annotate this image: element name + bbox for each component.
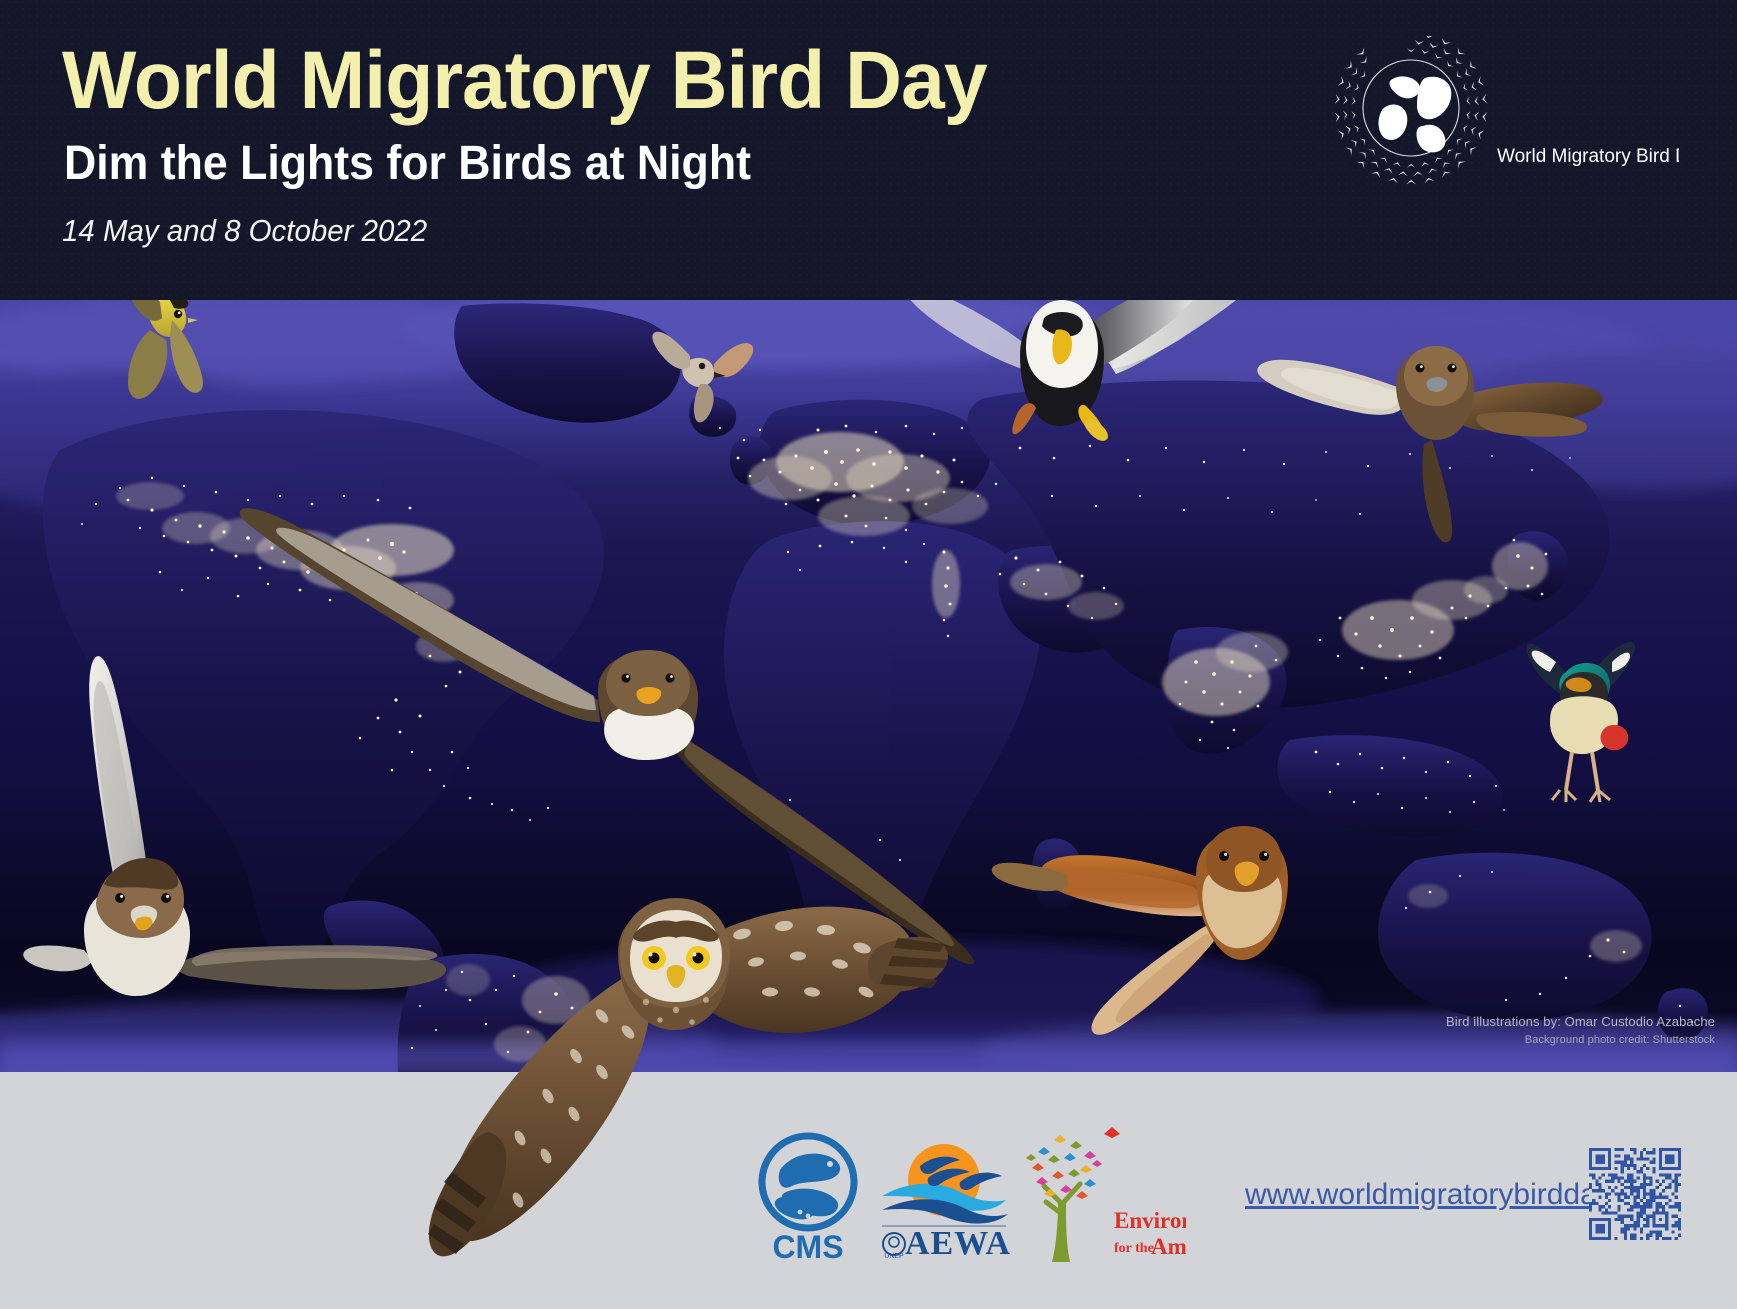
efta-label-line1: Environment	[1114, 1208, 1186, 1233]
efta-label-line3: Americas	[1151, 1234, 1186, 1259]
bird-spiral-icon	[1335, 36, 1488, 184]
wmbd-poster: World Migratory Bird Day Dim the Lights …	[0, 0, 1737, 1309]
wmbd-logo-caption: World Migratory Bird Day	[1497, 146, 1679, 167]
poster-dateline: 14 May and 8 October 2022	[62, 213, 427, 249]
aewa-logo-label: AEWA	[905, 1225, 1011, 1258]
credit-illustrations: Bird illustrations by: Omar Custodio Aza…	[1446, 1012, 1715, 1032]
page-title: World Migratory Bird Day	[62, 38, 987, 124]
cms-logo[interactable]: CMS	[746, 1130, 870, 1262]
credit-photo: Background photo credit: Shutterstock	[1446, 1032, 1715, 1049]
efta-logo[interactable]: Environment for the Americas	[1018, 1124, 1186, 1266]
poster-subtitle: Dim the Lights for Birds at Night	[64, 138, 751, 191]
globe-icon	[1363, 60, 1459, 156]
unep-emblem-icon: UNEP	[883, 1233, 905, 1258]
unep-label: UNEP	[884, 1253, 904, 1258]
wmbd-logo: World Migratory Bird Day	[1299, 36, 1679, 206]
cms-logo-label: CMS	[772, 1229, 843, 1262]
poster-header: World Migratory Bird Day Dim the Lights …	[0, 0, 1737, 300]
aewa-logo[interactable]: UNEP AEWA	[876, 1134, 1012, 1258]
credits: Bird illustrations by: Omar Custodio Aza…	[1446, 1012, 1715, 1048]
earth-at-night-map	[0, 300, 1737, 1072]
qr-code[interactable]	[1589, 1148, 1681, 1240]
efta-label-line2: for the	[1114, 1241, 1154, 1256]
